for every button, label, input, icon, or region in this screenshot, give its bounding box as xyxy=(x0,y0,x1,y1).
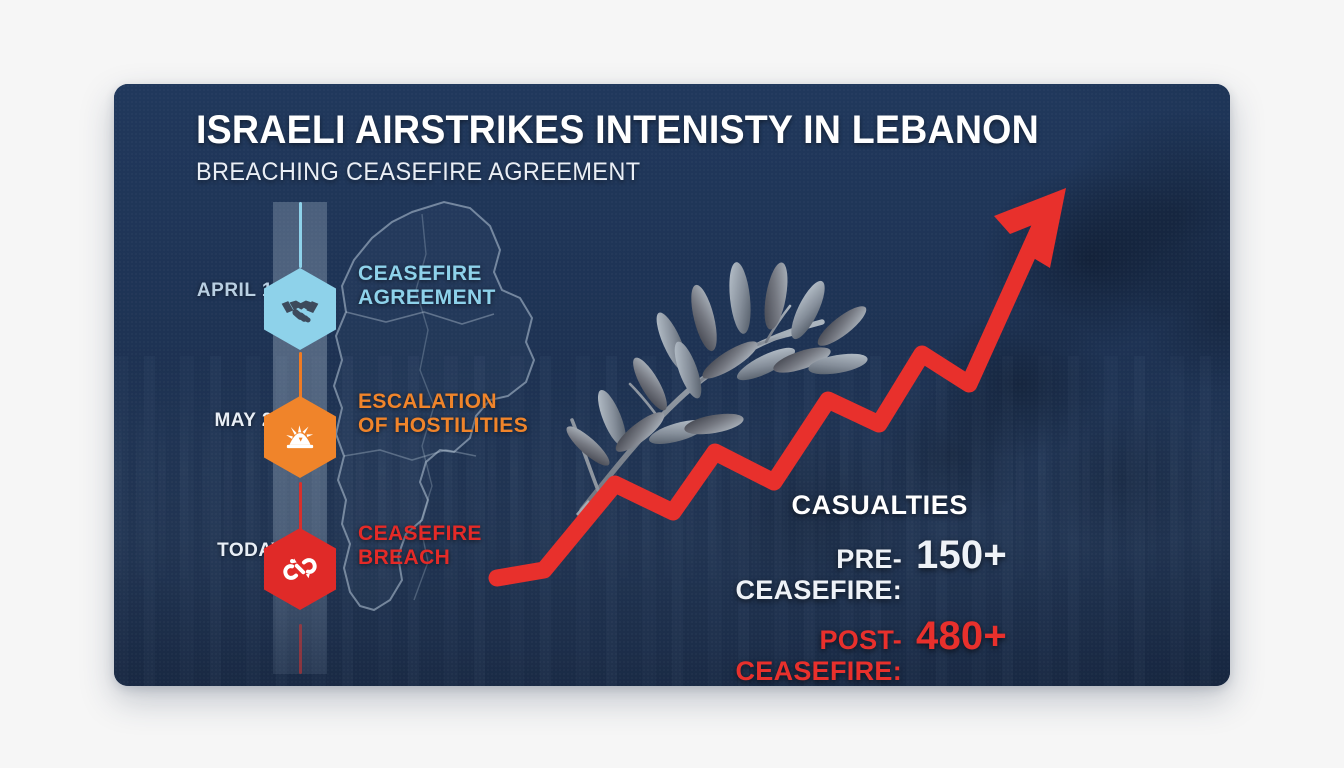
casualties-row-post: POST-CEASEFIRE: 480+ xyxy=(674,614,1024,686)
casualties-row-pre: PRE-CEASEFIRE: 150+ xyxy=(674,533,1024,606)
timeline-label-3: CEASEFIRE BREACH xyxy=(358,522,482,571)
pre-ceasefire-label: PRE-CEASEFIRE: xyxy=(674,544,902,606)
timeline-item-ceasefire-breach[interactable]: TODAY CEAS xyxy=(114,84,1230,85)
post-ceasefire-label: POST-CEASEFIRE: xyxy=(674,625,902,686)
screenshot-stage: ISRAELI AIRSTRIKES INTENISTY IN LEBANON … xyxy=(0,0,1344,768)
timeline-connector-bottom xyxy=(299,624,302,674)
broken-chain-icon xyxy=(279,548,321,590)
post-ceasefire-value: 480+ xyxy=(916,614,1024,659)
explosion-icon xyxy=(279,416,321,458)
timeline-connector-top xyxy=(299,202,302,268)
timeline-label-2: ESCALATION OF HOSTILITIES xyxy=(358,390,528,439)
timeline-label-1: CEASEFIRE AGREEMENT xyxy=(358,262,496,311)
casualties-panel: CASUALTIES PRE-CEASEFIRE: 150+ POST-CEAS… xyxy=(674,490,1024,686)
handshake-icon xyxy=(279,288,321,330)
timeline: APRIL 16 CEASEFIRE AGREEMENT xyxy=(114,84,1230,686)
pre-ceasefire-value: 150+ xyxy=(916,533,1024,578)
infographic-card: ISRAELI AIRSTRIKES INTENISTY IN LEBANON … xyxy=(114,84,1230,686)
casualties-title: CASUALTIES xyxy=(674,490,968,521)
